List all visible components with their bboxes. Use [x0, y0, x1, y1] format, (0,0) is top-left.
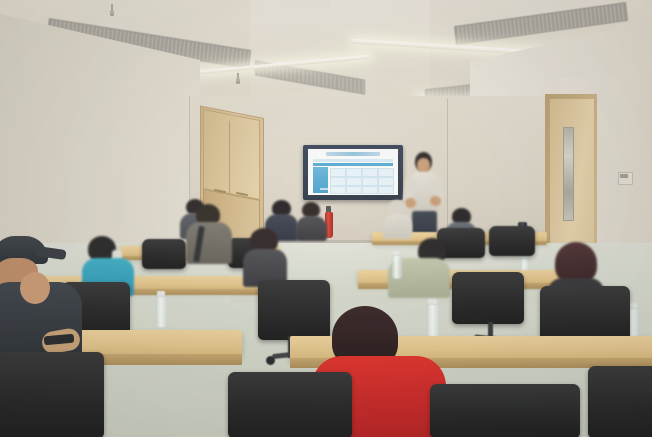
slide-subtitle-bar: [313, 159, 393, 162]
office-chair[interactable]: [452, 272, 524, 324]
water-bottle: [392, 255, 402, 279]
presenter-head: [417, 158, 430, 173]
sprinkler-head: [110, 10, 114, 14]
attendee-dark-center-body: [296, 216, 327, 241]
cabinet-upper-door[interactable]: [203, 109, 260, 200]
attendee-white-hair-body: [383, 214, 412, 239]
chair-caster: [266, 356, 275, 365]
office-chair[interactable]: [430, 384, 580, 437]
office-chair[interactable]: [228, 372, 352, 437]
cabinet-door-divider: [229, 121, 230, 197]
office-chair[interactable]: [0, 352, 104, 437]
water-bottle-cap: [428, 299, 437, 304]
presenter-hand-right: [430, 196, 441, 206]
wall-corner-seam: [447, 98, 448, 230]
presenter-hand-left: [405, 198, 416, 208]
wall-switch-rocker[interactable]: [620, 174, 628, 178]
slide-title-bar: [326, 152, 380, 156]
slide-data-grid: [329, 167, 393, 193]
slide-sidebar-panel: [313, 167, 328, 193]
office-chair[interactable]: [588, 366, 652, 437]
presenter-torso: [410, 172, 438, 214]
office-chair[interactable]: [142, 239, 186, 269]
office-chair[interactable]: [489, 226, 535, 256]
slide-accent-bar: [313, 163, 393, 166]
water-bottle-cap: [157, 291, 165, 296]
attendee-cap-hands: [20, 272, 50, 304]
office-chair[interactable]: [258, 280, 330, 340]
water-bottle: [156, 296, 168, 328]
sprinkler-head: [236, 78, 240, 82]
training-room-photo: [0, 0, 652, 437]
door-vision-panel: [563, 127, 574, 221]
projection-screen-slide[interactable]: [308, 149, 398, 195]
water-bottle-cap: [393, 251, 399, 255]
water-bottle: [427, 304, 440, 338]
